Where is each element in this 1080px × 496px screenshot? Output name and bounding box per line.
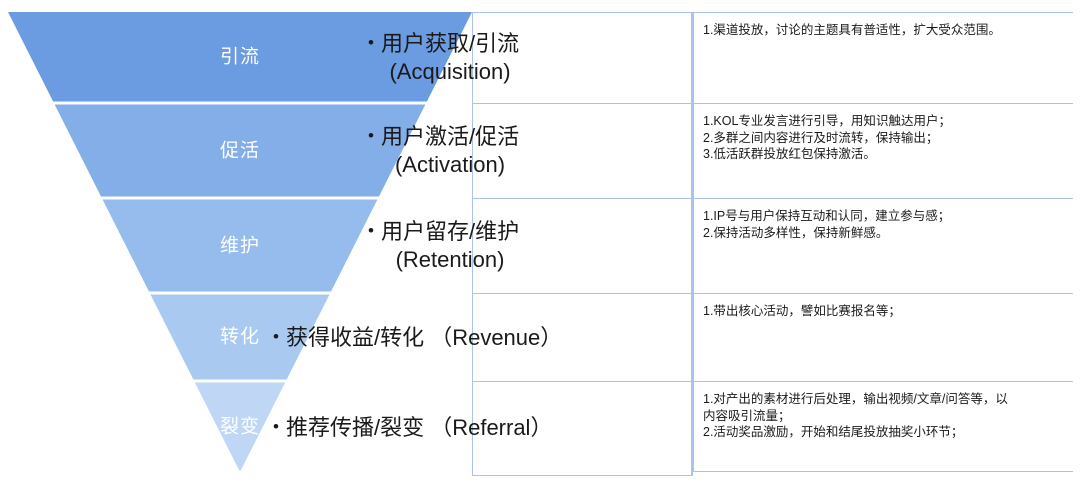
bullet-dot-icon: • bbox=[368, 30, 374, 56]
stage-name-cell: •用户激活/促活(Activation) bbox=[473, 104, 691, 199]
stage-name-en: (Activation) bbox=[395, 152, 505, 177]
stage-notes-text: 1.渠道投放，讨论的主题具有普适性，扩大受众范围。 bbox=[703, 22, 1073, 39]
stage-notes-text: 1.IP号与用户保持互动和认同，建立参与感； 2.保持活动多样性，保持新鲜感。 bbox=[703, 208, 1073, 241]
stage-name-text: 用户激活/促活(Activation) bbox=[381, 123, 519, 179]
funnel-diagram-canvas: 引流促活维护转化裂变 •用户获取/引流(Acquisition)•用户激活/促活… bbox=[0, 0, 1080, 496]
stage-name-cn: 用户留存/维护 bbox=[381, 219, 519, 244]
stage-notes-cell: 1.带出核心活动，譬如比赛报名等； bbox=[693, 293, 1073, 381]
stage-name-bullet-row: •用户获取/引流(Acquisition) bbox=[368, 30, 691, 86]
stage-name-cn: 用户获取/引流 bbox=[381, 31, 519, 56]
stage-name-cell: •用户获取/引流(Acquisition) bbox=[473, 13, 691, 104]
stage-name-text: 推荐传播/裂变 （Referral） bbox=[286, 414, 553, 442]
stage-name-en: (Retention) bbox=[396, 247, 505, 272]
stage-name-bullet-row: •获得收益/转化 （Revenue） bbox=[273, 324, 691, 352]
funnel-band bbox=[103, 200, 378, 292]
stage-notes-cell: 1.IP号与用户保持互动和认同，建立参与感； 2.保持活动多样性，保持新鲜感。 bbox=[693, 198, 1073, 293]
stage-name-text: 获得收益/转化 （Revenue） bbox=[286, 324, 562, 352]
stage-name-cell: •获得收益/转化 （Revenue） bbox=[473, 294, 691, 382]
bullet-dot-icon: • bbox=[368, 123, 374, 149]
stage-notes-text: 1.对产出的素材进行后处理，输出视频/文章/问答等，以 内容吸引流量； 2.活动… bbox=[703, 391, 1073, 441]
stage-name-en: (Acquisition) bbox=[389, 59, 510, 84]
stage-name-cn: 推荐传播/裂变 bbox=[286, 415, 424, 440]
bullet-dot-icon: • bbox=[368, 218, 374, 244]
stage-name-en: （Referral） bbox=[430, 415, 552, 440]
stage-name-cn: 用户激活/促活 bbox=[381, 124, 519, 149]
stage-name-bullet-row: •用户激活/促活(Activation) bbox=[368, 123, 691, 179]
stage-name-bullet-row: •推荐传播/裂变 （Referral） bbox=[273, 414, 691, 442]
funnel-band bbox=[195, 383, 285, 471]
stage-name-cell: •推荐传播/裂变 （Referral） bbox=[473, 382, 691, 473]
stage-name-column: •用户获取/引流(Acquisition)•用户激活/促活(Activation… bbox=[472, 12, 693, 476]
stage-name-en: （Revenue） bbox=[430, 325, 562, 350]
stage-notes-text: 1.KOL专业发言进行引导，用知识触达用户； 2.多群之间内容进行及时流转，保持… bbox=[703, 113, 1073, 163]
bullet-dot-icon: • bbox=[273, 414, 279, 440]
stage-name-text: 用户留存/维护(Retention) bbox=[381, 218, 519, 274]
stage-name-cn: 获得收益/转化 bbox=[286, 325, 424, 350]
stage-name-text: 用户获取/引流(Acquisition) bbox=[381, 30, 519, 86]
stage-notes-cell: 1.对产出的素材进行后处理，输出视频/文章/问答等，以 内容吸引流量； 2.活动… bbox=[693, 381, 1073, 472]
stage-notes-cell: 1.KOL专业发言进行引导，用知识触达用户； 2.多群之间内容进行及时流转，保持… bbox=[693, 103, 1073, 198]
stage-notes-text: 1.带出核心活动，譬如比赛报名等； bbox=[703, 303, 1073, 320]
bullet-dot-icon: • bbox=[273, 324, 279, 350]
stage-name-bullet-row: •用户留存/维护(Retention) bbox=[368, 218, 691, 274]
stage-notes-column: 1.渠道投放，讨论的主题具有普适性，扩大受众范围。1.KOL专业发言进行引导，用… bbox=[693, 12, 1073, 476]
stage-notes-cell: 1.渠道投放，讨论的主题具有普适性，扩大受众范围。 bbox=[693, 12, 1073, 103]
stage-name-cell: •用户留存/维护(Retention) bbox=[473, 199, 691, 294]
